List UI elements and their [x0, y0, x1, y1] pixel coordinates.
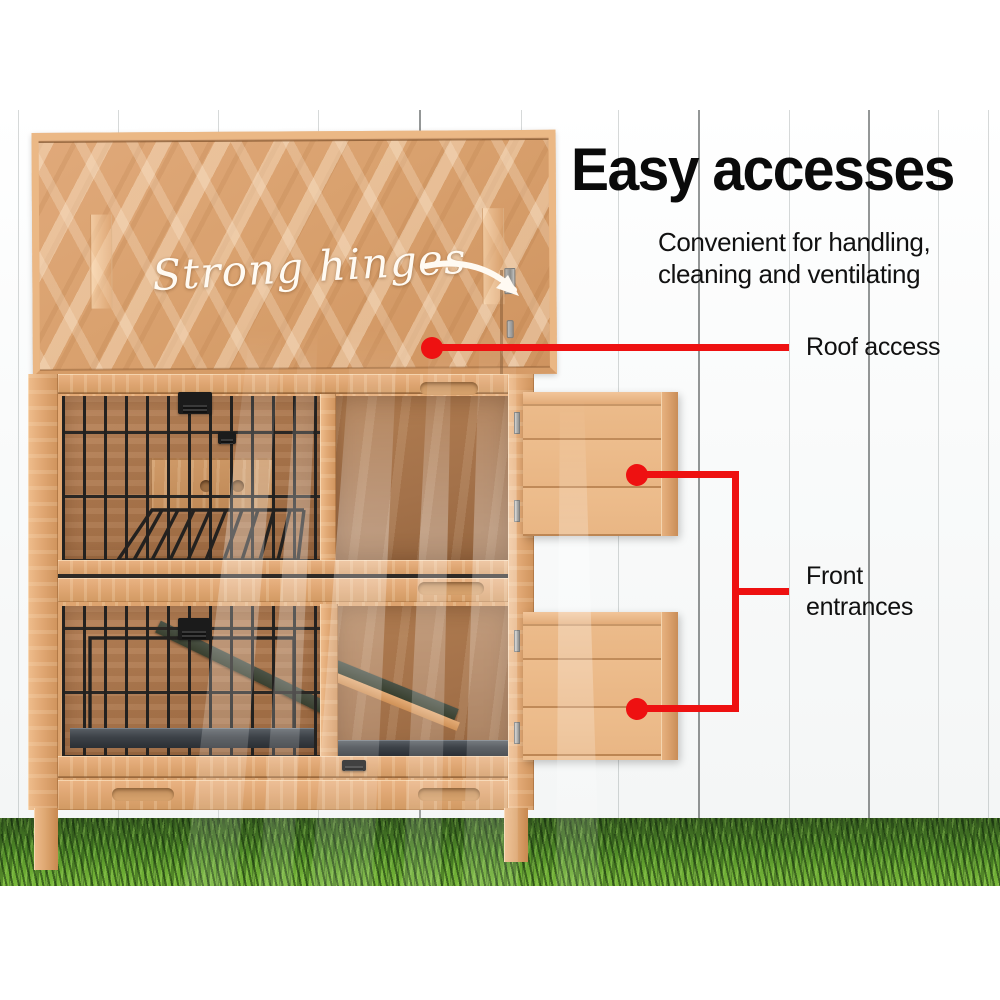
- divider-post-lower: [320, 604, 338, 760]
- base-handle-right: [418, 788, 480, 801]
- subtitle-line-1: Convenient for handling,: [658, 226, 988, 258]
- hutch-bottom-rail: [28, 756, 533, 778]
- callout-front-entrances: Front entrances: [806, 561, 913, 623]
- front-entrance-lower-leader: [637, 705, 739, 712]
- front-entrance-bracket-vertical: [732, 471, 739, 712]
- hinge-icon: [514, 630, 520, 652]
- upper-door-stile: [661, 392, 678, 536]
- upper-interior-handle: [420, 382, 478, 395]
- subtitle-line-2: cleaning and ventilating: [658, 258, 988, 290]
- lower-inner-frame-wire: [86, 628, 298, 740]
- hinge-icon: [514, 412, 520, 434]
- upper-front-entrance-door[interactable]: [523, 392, 678, 536]
- pull-out-tray: [70, 728, 314, 748]
- hutch-leg-right: [504, 808, 528, 862]
- hinge-icon: [514, 722, 520, 744]
- callout-front-entrances-line-2: entrances: [806, 592, 913, 623]
- upper-cage-latch: [178, 392, 212, 414]
- lower-door-stile: [661, 612, 678, 760]
- front-entrance-upper-leader: [637, 471, 739, 478]
- roof-access-leader-line: [432, 344, 789, 351]
- page-title: Easy accesses: [571, 140, 970, 200]
- hay-feeder-rack: [100, 492, 310, 562]
- base-handle-left: [112, 788, 174, 801]
- hutch-left-post: [28, 374, 58, 810]
- lower-interior-tray: [334, 740, 512, 756]
- bottom-centre-latch: [342, 760, 366, 771]
- callout-front-entrances-line-1: Front: [806, 561, 913, 592]
- curved-arrow-icon: [422, 252, 532, 304]
- hinge-icon: [514, 500, 520, 522]
- lower-cage-latch: [178, 618, 210, 640]
- upper-cage-clip: [218, 432, 236, 444]
- upper-door-top-rail: [523, 392, 661, 406]
- hutch-leg-left: [34, 808, 58, 870]
- latch-icon: [507, 320, 514, 338]
- product-marketing-image: Strong hinges: [0, 0, 1000, 1000]
- lower-door-top-rail: [523, 612, 661, 626]
- divider-post-upper: [320, 394, 336, 564]
- upper-interior: [334, 396, 512, 562]
- upper-cage: [62, 396, 320, 562]
- lower-front-entrance-door[interactable]: [523, 612, 678, 760]
- callout-roof-access: Roof access: [806, 332, 940, 363]
- roof-left-stile: [90, 215, 113, 309]
- middle-drawer-handle: [418, 582, 484, 595]
- page-subtitle: Convenient for handling, cleaning and ve…: [658, 226, 988, 290]
- front-entrance-bracket-stub: [739, 588, 789, 595]
